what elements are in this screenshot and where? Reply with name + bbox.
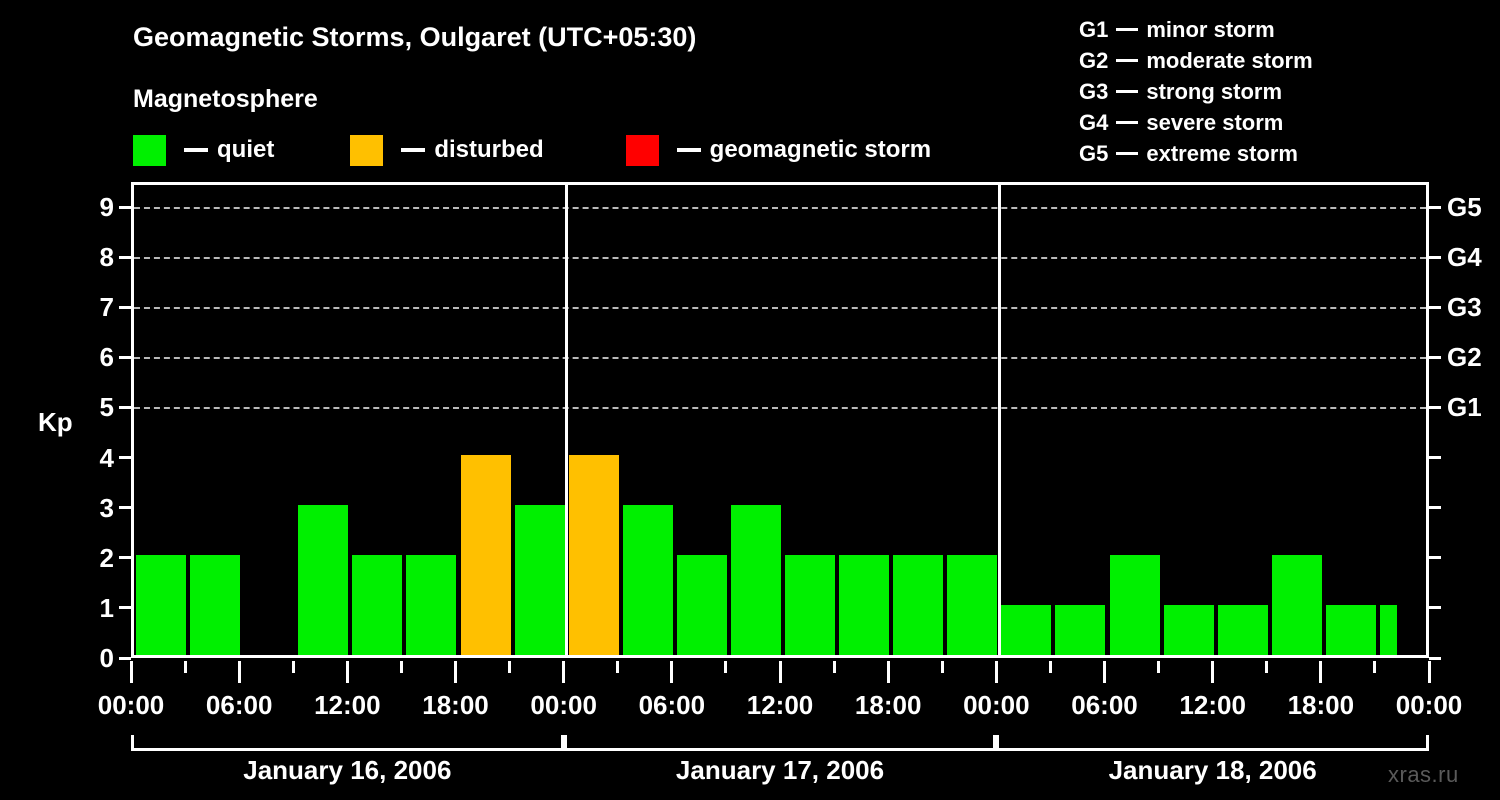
x-axis: 00:0006:0012:0018:0000:0006:0012:0018:00… bbox=[0, 0, 1500, 800]
x-tick-major-2 bbox=[238, 661, 241, 683]
x-tick-minor-23 bbox=[1373, 661, 1376, 673]
x-tick-minor-19 bbox=[1157, 661, 1160, 673]
x-tick-label-9: 06:00 bbox=[1071, 690, 1138, 721]
x-tick-minor-15 bbox=[941, 661, 944, 673]
day-label-3: January 18, 2006 bbox=[1109, 755, 1317, 786]
x-tick-label-5: 06:00 bbox=[639, 690, 706, 721]
day-label-1: January 16, 2006 bbox=[243, 755, 451, 786]
x-tick-major-12 bbox=[779, 661, 782, 683]
x-tick-minor-5 bbox=[400, 661, 403, 673]
x-tick-major-18 bbox=[1103, 661, 1106, 683]
x-tick-minor-1 bbox=[184, 661, 187, 673]
x-tick-label-7: 18:00 bbox=[855, 690, 922, 721]
x-tick-label-12: 00:00 bbox=[1396, 690, 1463, 721]
x-tick-minor-11 bbox=[724, 661, 727, 673]
x-tick-major-10 bbox=[670, 661, 673, 683]
x-tick-minor-9 bbox=[616, 661, 619, 673]
x-tick-label-10: 12:00 bbox=[1179, 690, 1246, 721]
x-tick-label-8: 00:00 bbox=[963, 690, 1030, 721]
x-tick-major-22 bbox=[1319, 661, 1322, 683]
x-tick-major-6 bbox=[454, 661, 457, 683]
x-tick-major-4 bbox=[346, 661, 349, 683]
x-tick-major-14 bbox=[887, 661, 890, 683]
day-bracket-3 bbox=[996, 735, 1429, 751]
x-tick-label-4: 00:00 bbox=[530, 690, 597, 721]
day-bracket-2 bbox=[564, 735, 997, 751]
x-tick-major-20 bbox=[1211, 661, 1214, 683]
x-tick-label-3: 18:00 bbox=[422, 690, 489, 721]
x-tick-minor-3 bbox=[292, 661, 295, 673]
x-tick-minor-17 bbox=[1049, 661, 1052, 673]
chart-root: Geomagnetic Storms, Oulgaret (UTC+05:30)… bbox=[0, 0, 1500, 800]
day-label-2: January 17, 2006 bbox=[676, 755, 884, 786]
x-tick-label-2: 12:00 bbox=[314, 690, 381, 721]
x-tick-minor-13 bbox=[833, 661, 836, 673]
x-tick-label-1: 06:00 bbox=[206, 690, 273, 721]
x-tick-minor-7 bbox=[508, 661, 511, 673]
x-tick-label-6: 12:00 bbox=[747, 690, 814, 721]
x-tick-label-11: 18:00 bbox=[1288, 690, 1355, 721]
x-tick-major-8 bbox=[562, 661, 565, 683]
day-bracket-1 bbox=[131, 735, 564, 751]
x-tick-major-0 bbox=[130, 661, 133, 683]
x-tick-label-0: 00:00 bbox=[98, 690, 165, 721]
x-tick-major-24 bbox=[1428, 661, 1431, 683]
x-tick-minor-21 bbox=[1265, 661, 1268, 673]
x-tick-major-16 bbox=[995, 661, 998, 683]
watermark: xras.ru bbox=[1388, 762, 1459, 788]
